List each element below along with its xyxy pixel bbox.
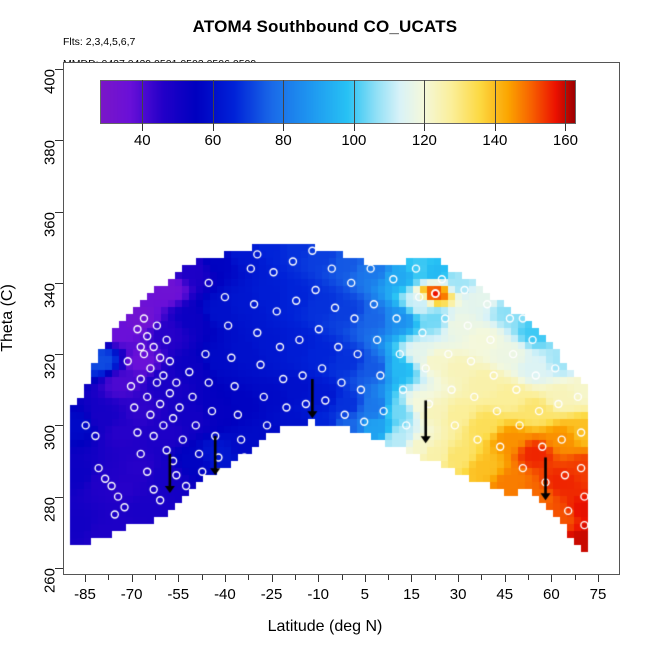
x-axis-tick-label: -85 [74,586,96,603]
colorbar-divider [495,80,496,124]
colorbar-gradient [100,80,576,124]
colorbar-divider [213,80,214,124]
x-axis-minor-tick [108,575,109,580]
x-axis-tick-label: 30 [450,586,467,603]
colorbar-tick-label: 140 [482,132,507,149]
x-axis-tick-label: 15 [403,586,420,603]
x-axis-tick [411,575,412,582]
colorbar-divider [565,80,566,124]
x-axis-tick-label: -70 [121,586,143,603]
figure-root: ATOM4 Southbound CO_UCATS Flts: 2,3,4,5,… [0,0,650,650]
colorbar-tick [424,124,425,131]
colorbar: 406080100120140160 [100,80,576,124]
x-axis-minor-tick [528,575,529,580]
colorbar-divider [142,80,143,124]
x-axis-tick-label: 60 [543,586,560,603]
colorbar-tick [495,124,496,131]
x-axis-tick [505,575,506,582]
colorbar-tick-label: 40 [134,132,151,149]
page-title: ATOM4 Southbound CO_UCATS [0,17,650,37]
colorbar-tick-label: 160 [553,132,578,149]
x-axis-tick [85,575,86,582]
x-axis-tick-label: -25 [261,586,283,603]
x-axis-tick [225,575,226,582]
x-axis-tick-label: -40 [214,586,236,603]
colorbar-tick [354,124,355,131]
x-axis-tick [272,575,273,582]
y-axis-tick-label: 280 [42,497,59,522]
y-axis-tick-label: 340 [42,283,59,308]
colorbar-tick-label: 120 [412,132,437,149]
colorbar-divider [283,80,284,124]
y-axis-tick-label: 360 [42,212,59,237]
x-axis-minor-tick [388,575,389,580]
colorbar-tick [213,124,214,131]
y-axis-tick-label: 300 [42,425,59,450]
colorbar-tick [565,124,566,131]
x-axis-tick-label: 5 [361,586,369,603]
colorbar-tick [142,124,143,131]
x-axis-tick [365,575,366,582]
x-axis-tick-label: -10 [307,586,329,603]
x-axis-tick-label: 75 [590,586,607,603]
x-axis-tick-label: -55 [167,586,189,603]
x-axis-minor-tick [575,575,576,580]
x-axis-tick [458,575,459,582]
x-axis-tick [132,575,133,582]
y-axis-tick-label: 400 [42,69,59,94]
y-axis-label: Theta (C) [0,284,17,352]
y-axis-tick-label: 320 [42,354,59,379]
x-axis-minor-tick [435,575,436,580]
colorbar-tick-label: 100 [341,132,366,149]
x-axis-tick [178,575,179,582]
x-axis-minor-tick [155,575,156,580]
y-axis-tick-label: 380 [42,140,59,165]
x-axis-tick [551,575,552,582]
x-axis-tick-label: 45 [496,586,513,603]
colorbar-divider [424,80,425,124]
x-axis-minor-tick [342,575,343,580]
y-axis-tick-label: 260 [42,568,59,593]
colorbar-tick-label: 80 [275,132,292,149]
flights-annotation: Flts: 2,3,4,5,6,7 [63,36,135,48]
x-axis-minor-tick [248,575,249,580]
x-axis-minor-tick [295,575,296,580]
x-axis-tick [598,575,599,582]
colorbar-tick-label: 60 [204,132,221,149]
x-axis-tick [318,575,319,582]
x-axis-label: Latitude (deg N) [0,618,650,636]
colorbar-tick [283,124,284,131]
colorbar-divider [354,80,355,124]
x-axis-minor-tick [481,575,482,580]
x-axis-minor-tick [202,575,203,580]
